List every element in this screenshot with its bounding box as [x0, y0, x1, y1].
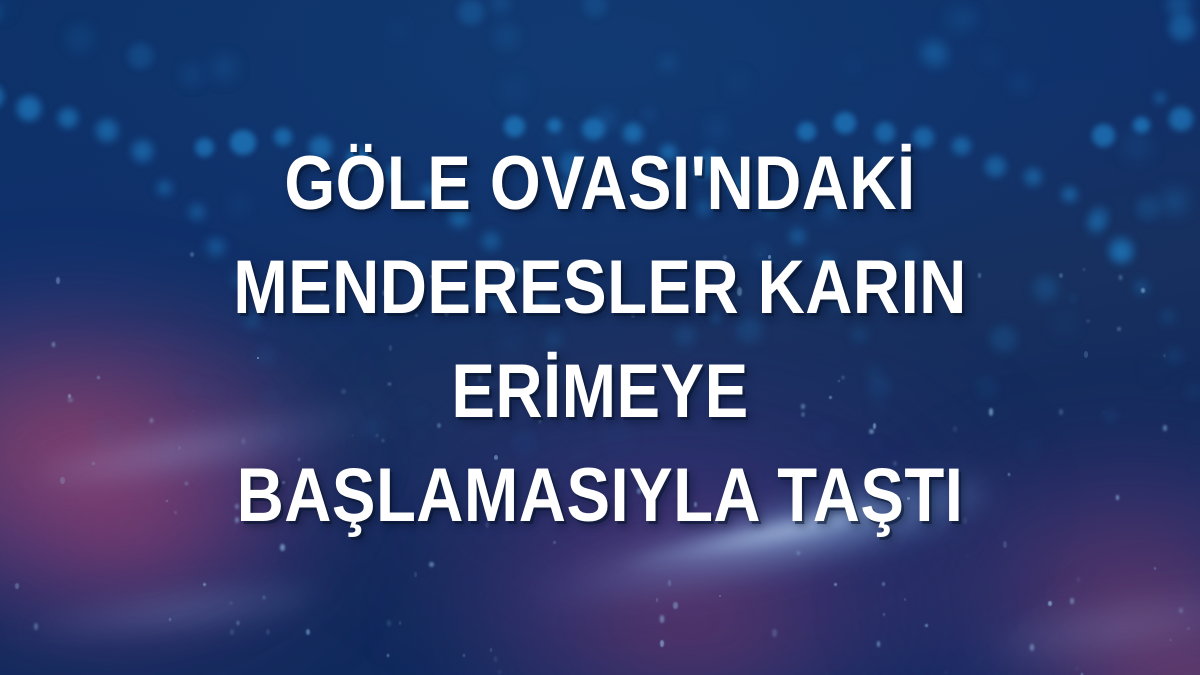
- headline-line-1: GÖLE OVASI'NDAKİ: [108, 132, 1092, 236]
- headline-line-3: ERİMEYE: [108, 340, 1092, 444]
- headline: GÖLE OVASI'NDAKİ MENDERESLER KARIN ERİME…: [0, 132, 1200, 548]
- headline-card: GÖLE OVASI'NDAKİ MENDERESLER KARIN ERİME…: [0, 0, 1200, 675]
- headline-line-2: MENDERESLER KARIN: [108, 236, 1092, 340]
- headline-line-4: BAŞLAMASIYLA TAŞTI: [108, 444, 1092, 548]
